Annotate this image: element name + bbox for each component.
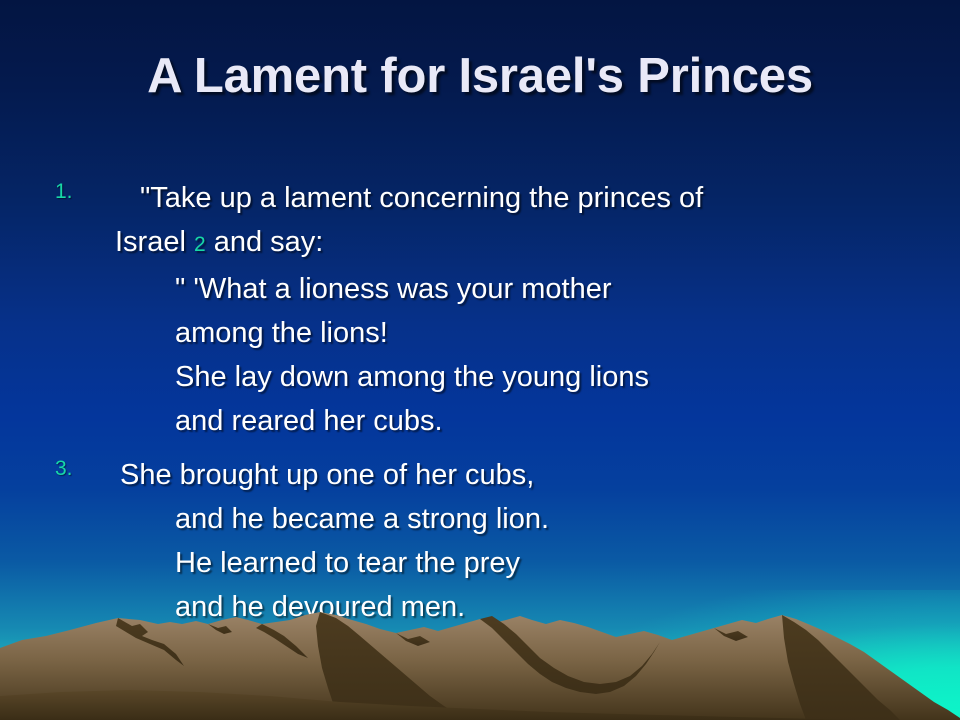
body-line: She lay down among the young lions — [0, 355, 960, 399]
body-line-text: Israel — [115, 226, 194, 258]
body-line: Israel 2 and say: — [0, 220, 960, 267]
list-marker-1: 1. — [55, 180, 73, 204]
list-item-lines: She brought up one of her cubs, and he b… — [0, 453, 960, 629]
body-line: and he became a strong lion. — [0, 497, 960, 541]
body-line: She brought up one of her cubs, — [0, 453, 960, 497]
mountain-range-silhouette — [0, 610, 960, 720]
slide-body: 1. "Take up a lament concerning the prin… — [0, 176, 960, 629]
list-item: 1. "Take up a lament concerning the prin… — [0, 176, 960, 443]
verse-number: 2 — [194, 233, 206, 256]
list-item: 3. She brought up one of her cubs, and h… — [0, 453, 960, 629]
slide-title: A Lament for Israel's Princes — [0, 48, 960, 104]
body-line: and reared her cubs. — [0, 399, 960, 443]
body-line: He learned to tear the prey — [0, 541, 960, 585]
presentation-slide: A Lament for Israel's Princes 1. "Take u… — [0, 0, 960, 720]
body-line: "Take up a lament concerning the princes… — [0, 176, 960, 220]
body-line-text-after: and say: — [206, 226, 324, 258]
list-item-lines: "Take up a lament concerning the princes… — [0, 176, 960, 443]
list-marker-3: 3. — [55, 457, 73, 481]
body-line: " 'What a lioness was your mother — [0, 267, 960, 311]
body-line: among the lions! — [0, 311, 960, 355]
